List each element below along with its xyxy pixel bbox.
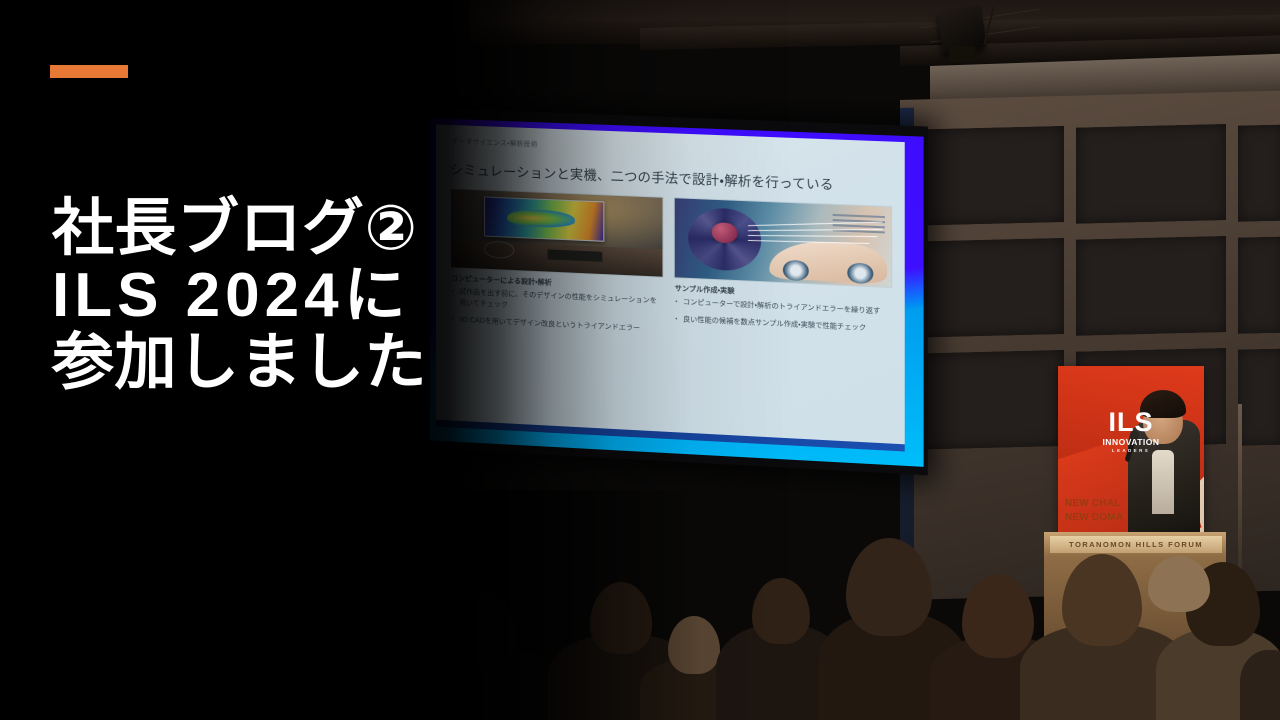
accent-bar [50,65,128,78]
page-title: 社長ブログ② ILS 2024に 参加しました [52,196,522,397]
title-line-1: 社長ブログ② [52,196,522,263]
title-line-2: ILS 2024に [52,263,522,330]
banner-tagline-line1: NEW CHAL [1065,497,1123,511]
ils-logo: ILS INNOVATION LEADERS [1102,410,1159,453]
banner-tagline-line2: NEW DOMA [1065,511,1123,525]
screenshot-root: データサイエンス・解析技術 シミュレーションと実機、二つの手法で設計・解析を行っ… [0,0,1280,720]
dark-bottom-overlay [0,490,700,720]
banner-tagline: NEW CHAL NEW DOMA [1065,497,1123,524]
title-line-3: 参加しました [52,330,522,397]
ils-logo-sub-leaders: LEADERS [1102,448,1159,453]
ils-logo-sub-innovation: INNOVATION [1102,437,1159,447]
ils-logo-mark: ILS [1102,410,1159,435]
